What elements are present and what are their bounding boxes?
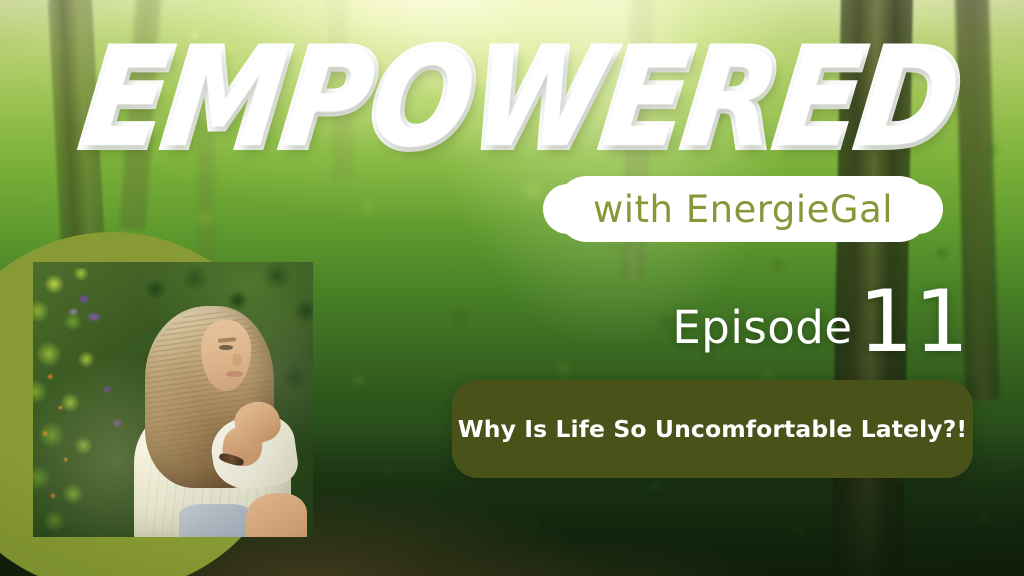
host-tagline-pill: with EnergieGal (543, 176, 943, 242)
episode-number: 11 (859, 286, 970, 358)
host-photo (33, 262, 313, 537)
episode-number-block: Episode 11 (620, 278, 970, 358)
episode-label: Episode (672, 305, 852, 358)
host-photo-sunlight (33, 262, 313, 537)
podcast-episode-cover: EMPOWERED with EnergieGal Episode 11 Why… (0, 0, 1024, 576)
host-tagline-text: with EnergieGal (543, 176, 943, 242)
episode-title: Why Is Life So Uncomfortable Lately?! (458, 415, 968, 443)
show-title: EMPOWERED (77, 28, 794, 169)
episode-title-banner: Why Is Life So Uncomfortable Lately?! (452, 380, 973, 478)
show-title-block: EMPOWERED (86, 36, 786, 166)
